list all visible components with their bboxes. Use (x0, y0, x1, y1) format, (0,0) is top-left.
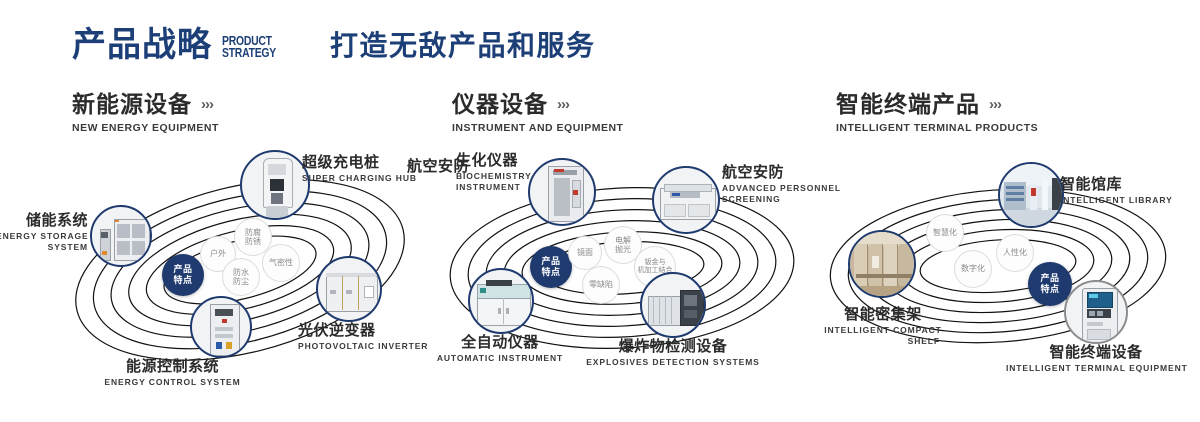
chevron-right-icon: ››› (989, 97, 1001, 112)
product-node-photovoltaic-inverter[interactable] (316, 256, 382, 322)
feature-bubble-line2: 防锈 (245, 237, 261, 246)
automatic-analyzer-icon (470, 270, 532, 332)
explosives-detector-icon (642, 274, 704, 336)
orbit-group-new-energy: 产品 特点 户外 防腐 防锈 气密性 防水 防尘 (50, 150, 430, 380)
caption-en: INTELLIGENT COMPACT SHELF (818, 325, 948, 346)
caption-en: AUTOMATIC INSTRUMENT (429, 353, 571, 364)
ev-charger-icon (242, 152, 308, 218)
caption-en: ENERGY CONTROL SYSTEM (85, 377, 260, 388)
caption-en-line2: SHELF (818, 336, 948, 347)
core-bubble-line2: 特点 (1040, 284, 1059, 294)
feature-bubble-line2: 抛光 (615, 245, 631, 254)
caption-cn: 智能密集架 (818, 306, 948, 323)
section-title-en: NEW ENERGY EQUIPMENT (72, 122, 219, 134)
feature-bubble-line2: 防尘 (233, 277, 249, 286)
product-node-super-charging-hub[interactable] (240, 150, 310, 220)
compact-shelving-icon (850, 232, 914, 296)
section-title-cn-text: 新能源设备 (72, 92, 192, 117)
caption-en-line1: BIOCHEMISTRY (456, 171, 576, 182)
core-bubble-line2: 特点 (541, 267, 560, 277)
feature-bubble: 人性化 (996, 234, 1034, 272)
smart-library-room-icon (1000, 164, 1062, 226)
section-title-en: INTELLIGENT TERMINAL PRODUCTS (836, 122, 1038, 134)
caption-energy-control-system: 能源控制系统 ENERGY CONTROL SYSTEM (85, 358, 260, 388)
feature-bubble-line1: 智慧化 (933, 228, 957, 237)
caption-cn: 光伏逆变器 (298, 322, 448, 339)
feature-bubble-line1: 气密性 (269, 258, 293, 267)
caption-automatic-instrument: 全自动仪器 AUTOMATIC INSTRUMENT (429, 334, 571, 364)
core-bubble-line1: 产品 (1040, 273, 1059, 283)
caption-en: INTELLIGENT LIBRARY (1060, 195, 1200, 206)
chevron-right-icon: ››› (201, 97, 213, 112)
product-node-intelligent-compact-shelf[interactable] (848, 230, 916, 298)
core-bubble-line2: 特点 (173, 275, 192, 285)
caption-intelligent-library: 智能馆库 INTELLIGENT LIBRARY (1060, 176, 1200, 206)
caption-en: PHOTOVOLTAIC INVERTER (298, 341, 448, 352)
feature-bubble-line1: 镜面 (577, 248, 593, 257)
page-subtitle: 打造无敌产品和服务 (330, 32, 596, 60)
product-node-automatic-instrument[interactable] (468, 268, 534, 334)
section-title-cn: 新能源设备 ››› (72, 92, 219, 117)
section-title-cn: 智能终端产品 ››› (836, 92, 1038, 117)
page-header: 产品战略 PRODUCT STRATEGY (72, 28, 289, 62)
chevron-right-icon: ››› (557, 97, 569, 112)
energy-storage-cabinet-icon (92, 207, 150, 265)
caption-en: BIOCHEMISTRY INSTRUMENT (456, 171, 576, 192)
product-node-explosives-detection[interactable] (640, 272, 706, 338)
control-cabinet-icon (192, 298, 250, 356)
caption-en-line1: INTELLIGENT COMPACT (818, 325, 948, 336)
caption-en-line1: ENERGY STORAGE (0, 231, 88, 242)
section-title-new-energy: 新能源设备 ››› NEW ENERGY EQUIPMENT (72, 92, 219, 134)
feature-bubble-line1: 钣金与 (645, 259, 666, 266)
caption-cn: 智能馆库 (1060, 176, 1200, 193)
product-node-advanced-personnel-screening[interactable] (652, 166, 720, 234)
product-node-intelligent-library[interactable] (998, 162, 1064, 228)
caption-cn: 储能系统 (0, 212, 88, 229)
caption-cn: 智能终端设备 (1006, 344, 1186, 361)
caption-photovoltaic-inverter: 光伏逆变器 PHOTOVOLTAIC INVERTER (298, 322, 448, 352)
orbit-group-instrument: 产品 特点 镜面 电解 抛光 钣金与 机加工结合 零缺陷 航空安防 (434, 150, 814, 380)
feature-bubble-line1: 电解 (615, 236, 631, 245)
core-bubble-line1: 产品 (541, 256, 560, 266)
product-strategy-infographic: 产品战略 PRODUCT STRATEGY 打造无敌产品和服务 新能源设备 ››… (0, 0, 1200, 422)
caption-en-line2: INSTRUMENT (456, 182, 576, 193)
product-node-energy-storage[interactable] (90, 205, 152, 267)
feature-bubble-line1: 零缺陷 (589, 280, 613, 289)
caption-explosives-detection: 爆炸物检测设备 EXPLOSIVES DETECTION SYSTEMS (586, 338, 760, 368)
self-service-kiosk-icon (1066, 282, 1126, 342)
section-title-cn-text: 智能终端产品 (836, 92, 980, 117)
feature-bubble-line1: 防水 (233, 268, 249, 277)
caption-cn: 爆炸物检测设备 (586, 338, 760, 355)
caption-biochemistry-instrument: 生化仪器 BIOCHEMISTRY INSTRUMENT (456, 152, 576, 193)
caption-cn: 全自动仪器 (429, 334, 571, 351)
caption-en: EXPLOSIVES DETECTION SYSTEMS (586, 357, 760, 368)
feature-bubble: 气密性 (262, 244, 300, 282)
page-title: 产品战略 (72, 28, 212, 62)
feature-bubble-line1: 防腐 (245, 228, 261, 237)
core-bubble-product-features: 产品 特点 (530, 246, 572, 288)
core-bubble-line1: 产品 (173, 264, 192, 274)
section-title-cn: 仪器设备 ››› (452, 92, 623, 117)
section-title-intelligent-terminal: 智能终端产品 ››› INTELLIGENT TERMINAL PRODUCTS (836, 92, 1038, 134)
caption-en: ENERGY STORAGE SYSTEM (0, 231, 88, 252)
section-title-instrument: 仪器设备 ››› INSTRUMENT AND EQUIPMENT (452, 92, 623, 134)
feature-bubble: 智慧化 (926, 214, 964, 252)
section-title-cn-text: 仪器设备 (452, 92, 548, 117)
section-title-en: INSTRUMENT AND EQUIPMENT (452, 122, 623, 134)
feature-bubble: 镜面 (568, 236, 602, 270)
feature-bubble: 数字化 (954, 250, 992, 288)
orbit-group-intelligent-terminal: 智慧化 人性化 数字化 产品 特点 (820, 158, 1180, 378)
feature-bubble-line1: 人性化 (1003, 248, 1027, 257)
caption-cn: 能源控制系统 (85, 358, 260, 375)
product-node-energy-control-system[interactable] (190, 296, 252, 358)
feature-bubble: 零缺陷 (582, 266, 620, 304)
caption-en-line2: SYSTEM (0, 242, 88, 253)
screening-machine-icon (654, 168, 718, 232)
caption-intelligent-terminal-equipment: 智能终端设备 INTELLIGENT TERMINAL EQUIPMENT (1006, 344, 1186, 374)
solar-inverter-icon (318, 258, 380, 320)
page-title-english: PRODUCT STRATEGY (222, 35, 276, 60)
feature-bubble: 防水 防尘 (222, 258, 260, 296)
feature-bubble-line1: 数字化 (961, 264, 985, 273)
page-title-english-line2: STRATEGY (222, 47, 276, 60)
caption-cn: 生化仪器 (456, 152, 576, 169)
product-node-intelligent-terminal-equipment[interactable] (1064, 280, 1128, 344)
core-bubble-product-features: 产品 特点 (162, 254, 204, 296)
caption-intelligent-compact-shelf: 智能密集架 INTELLIGENT COMPACT SHELF (818, 306, 948, 347)
caption-en: INTELLIGENT TERMINAL EQUIPMENT (1006, 363, 1186, 374)
caption-energy-storage: 储能系统 ENERGY STORAGE SYSTEM (0, 212, 88, 253)
feature-bubble-line1: 户外 (210, 249, 226, 258)
